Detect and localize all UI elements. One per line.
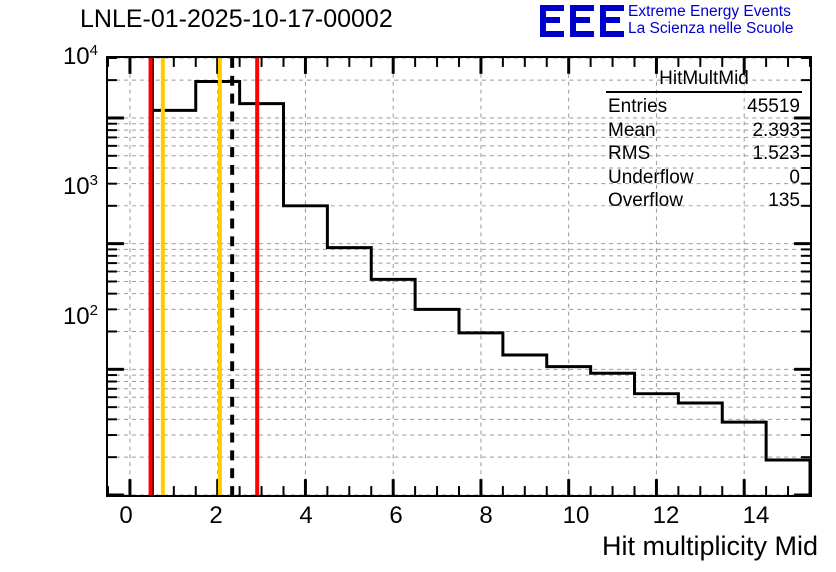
stats-row-value: 135 bbox=[768, 189, 800, 213]
eee-logo-text: Extreme Energy Events La Scienza nelle S… bbox=[628, 3, 836, 37]
stats-row-key: Underflow bbox=[608, 166, 694, 190]
xtick-label-10: 10 bbox=[556, 502, 596, 530]
stats-row-value: 45519 bbox=[747, 95, 800, 119]
stats-row: Mean2.393 bbox=[604, 119, 804, 143]
stats-rows: Entries45519Mean2.393RMS1.523Underflow0O… bbox=[604, 95, 804, 213]
eee-logo: Extreme Energy Events La Scienza nelle S… bbox=[540, 2, 836, 42]
xtick-label-4: 4 bbox=[286, 502, 326, 530]
xtick-label-8: 8 bbox=[466, 502, 506, 530]
xtick-label-14: 14 bbox=[736, 502, 776, 530]
stats-row: Underflow0 bbox=[604, 166, 804, 190]
xtick-label-6: 6 bbox=[376, 502, 416, 530]
stats-row: RMS1.523 bbox=[604, 142, 804, 166]
stats-row-value: 0 bbox=[789, 166, 800, 190]
stats-box: HitMultMid Entries45519Mean2.393RMS1.523… bbox=[604, 68, 804, 213]
ytick-label-1e4: 104 bbox=[38, 42, 98, 71]
logo-line-2: La Scienza nelle Scuole bbox=[628, 20, 836, 37]
stats-row-key: Entries bbox=[608, 95, 667, 119]
xtick-label-12: 12 bbox=[646, 502, 686, 530]
stats-divider bbox=[606, 91, 802, 93]
xtick-label-0: 0 bbox=[106, 502, 146, 530]
x-axis-title: Hit multiplicity Mid bbox=[602, 531, 818, 562]
histogram-canvas: LNLE-01-2025-10-17-00002 Extreme Energy … bbox=[0, 0, 836, 572]
page-title: LNLE-01-2025-10-17-00002 bbox=[80, 5, 393, 34]
ytick-label-1e2: 102 bbox=[38, 302, 98, 331]
stats-title: HitMultMid bbox=[604, 68, 804, 91]
logo-line-1: Extreme Energy Events bbox=[628, 3, 836, 20]
stats-row-key: Overflow bbox=[608, 189, 683, 213]
ytick-label-1e3: 103 bbox=[38, 172, 98, 201]
stats-row: Overflow135 bbox=[604, 189, 804, 213]
xtick-label-2: 2 bbox=[196, 502, 236, 530]
stats-row-value: 2.393 bbox=[752, 119, 800, 143]
stats-row-key: RMS bbox=[608, 142, 650, 166]
stats-row-key: Mean bbox=[608, 119, 656, 143]
eee-logo-mark bbox=[540, 4, 624, 38]
stats-row-value: 1.523 bbox=[752, 142, 800, 166]
stats-row: Entries45519 bbox=[604, 95, 804, 119]
